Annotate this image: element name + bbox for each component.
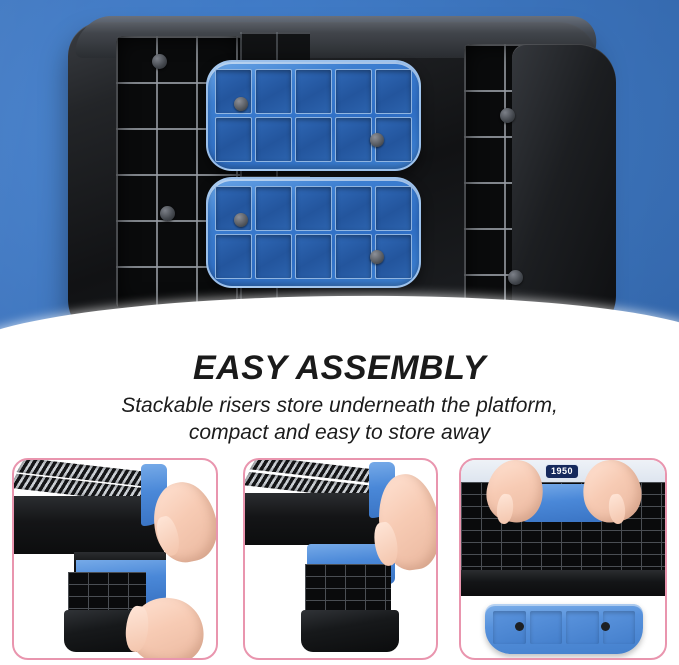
riser-cell [215, 234, 252, 279]
riser-upper [206, 60, 421, 171]
riser-cell [335, 186, 372, 231]
riser-foot [234, 97, 248, 111]
riser-cells [215, 69, 412, 162]
riser-cell [295, 69, 332, 114]
product-marketing-image: EASY ASSEMBLY Stackable risers store und… [0, 0, 679, 665]
platform-right-cap [512, 44, 616, 336]
card-3-illustration: 1950 [461, 460, 665, 658]
riser-cell [295, 234, 332, 279]
riser-stack [206, 60, 421, 288]
riser-cells [215, 186, 412, 279]
platform-foot [500, 108, 515, 123]
page-title: EASY ASSEMBLY [0, 349, 679, 388]
card-insert-riser: 1950 [459, 458, 667, 660]
card-1-illustration [14, 460, 216, 658]
page-subtitle: Stackable risers store underneath the pl… [0, 392, 679, 446]
subtitle-line-1: Stackable risers store underneath the pl… [0, 392, 679, 419]
riser-cell [255, 186, 292, 231]
card-attach-riser [12, 458, 218, 660]
riser-cell [215, 117, 252, 162]
card-align-riser [243, 458, 438, 660]
riser-cell [255, 117, 292, 162]
riser-cell [335, 69, 372, 114]
platform-foot [508, 270, 523, 285]
riser-foot [370, 250, 384, 264]
step-card-row: 1950 [0, 458, 679, 661]
riser-cell [295, 117, 332, 162]
riser-black-base [301, 610, 399, 652]
riser-foot [370, 133, 384, 147]
riser-foot [515, 622, 524, 631]
platform-foot [152, 54, 167, 69]
riser-detail-view [485, 604, 643, 654]
riser-lower [206, 177, 421, 288]
riser-cell [255, 69, 292, 114]
riser-foot [234, 213, 248, 227]
riser-cell [375, 186, 412, 231]
badge-1950: 1950 [545, 464, 579, 479]
riser-cell [295, 186, 332, 231]
riser-cell [375, 69, 412, 114]
riser-cell [335, 234, 372, 279]
riser-cell [530, 611, 563, 644]
card-2-illustration [245, 460, 436, 658]
riser-foot [601, 622, 610, 631]
riser-cell [335, 117, 372, 162]
platform-front-edge [461, 570, 665, 596]
riser-cell [566, 611, 599, 644]
subtitle-line-2: compact and easy to store away [0, 419, 679, 446]
riser-cell [255, 234, 292, 279]
platform-foot [160, 206, 175, 221]
